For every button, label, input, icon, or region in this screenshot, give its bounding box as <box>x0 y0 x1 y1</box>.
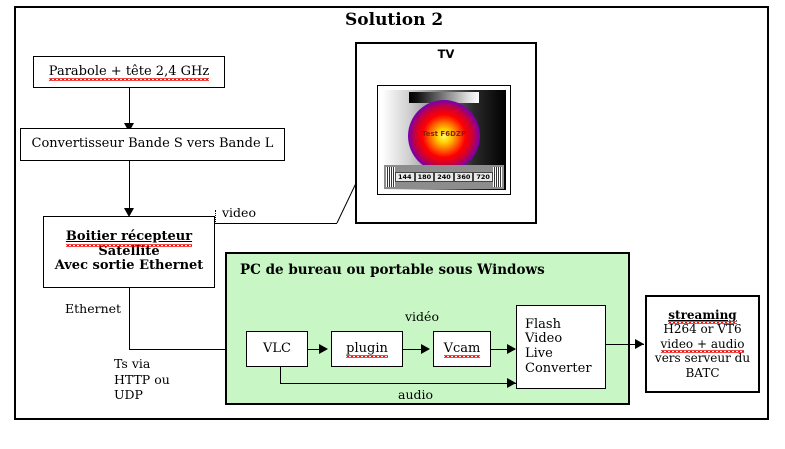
node-streaming-line1: H264 or VT6 <box>663 322 741 336</box>
node-receiver-line2: Satellite <box>98 245 159 260</box>
node-vlc: VLC <box>246 331 308 367</box>
arrowhead-plugin-vcam <box>421 344 430 354</box>
node-antenna: Parabole + tête 2,4 GHz <box>33 56 225 88</box>
tv-resolution-cell: 360 <box>454 172 474 183</box>
node-flash-converter-line2: Video <box>525 332 562 347</box>
tv-resolution-cell: 180 <box>415 172 435 183</box>
tv-test-pattern-text: Test F6DZP <box>422 130 466 138</box>
edge-label-transport-line1: Ts via <box>114 356 170 372</box>
tv-screen-frame: Test F6DZP 144 180 240 360 720 <box>377 85 511 195</box>
frequency-bars-icon <box>493 167 502 187</box>
arrowhead-flash-streaming <box>635 339 644 349</box>
connector-antenna-converter <box>129 88 130 126</box>
node-vcam-label: Vcam <box>444 342 481 357</box>
connector-video-horizontal <box>215 223 337 224</box>
connector-converter-receiver <box>129 161 130 213</box>
tv-resolution-bar: 144 180 240 360 720 <box>384 165 504 189</box>
connector-ethernet-vertical <box>129 288 130 350</box>
node-vcam: Vcam <box>433 331 491 367</box>
connector-video-stub <box>215 210 216 224</box>
node-plugin-label: plugin <box>346 342 388 357</box>
edge-label-video-mid: vidéo <box>405 309 439 325</box>
node-converter: Convertisseur Bande S vers Bande L <box>20 128 285 161</box>
node-flash-converter: Flash Video Live Converter <box>516 305 606 389</box>
node-converter-label: Convertisseur Bande S vers Bande L <box>32 137 274 152</box>
panel-pc-title: PC de bureau ou portable sous Windows <box>240 262 545 278</box>
node-plugin: plugin <box>331 331 403 367</box>
frequency-bars-icon <box>386 167 395 187</box>
node-antenna-label: Parabole + tête 2,4 GHz <box>49 65 209 80</box>
node-streaming: streaming H264 or VT6 video + audio vers… <box>645 295 760 393</box>
edge-label-transport-line3: UDP <box>114 387 170 403</box>
edge-label-transport: Ts via HTTP ou UDP <box>114 356 170 403</box>
tv-test-pattern: Test F6DZP 144 180 240 360 720 <box>382 90 506 190</box>
node-vlc-label: VLC <box>263 342 291 357</box>
panel-tv-label: TV <box>355 47 537 61</box>
edge-label-video-out: video <box>222 205 256 221</box>
node-streaming-title: streaming <box>668 308 736 322</box>
connector-audio-vertical <box>280 367 281 384</box>
arrowhead-vcam-flash <box>507 344 516 354</box>
node-receiver-line3: Avec sortie Ethernet <box>55 259 204 274</box>
edge-label-ethernet: Ethernet <box>65 301 121 317</box>
diagram-canvas: Solution 2 Parabole + tête 2,4 GHz Conve… <box>0 0 785 449</box>
node-flash-converter-line1: Flash <box>525 318 561 333</box>
tv-resolution-cell: 720 <box>473 172 493 183</box>
node-receiver: Boitier récepteur Satellite Avec sortie … <box>43 216 215 288</box>
connector-audio-horizontal <box>280 383 516 384</box>
node-streaming-line4: BATC <box>685 366 719 380</box>
tv-resolution-cell: 144 <box>395 172 415 183</box>
edge-label-transport-line2: HTTP ou <box>114 372 170 388</box>
arrowhead-audio-flash <box>507 378 516 388</box>
tv-resolution-cell: 240 <box>434 172 454 183</box>
node-receiver-line1: Boitier récepteur <box>66 230 192 245</box>
arrowhead-vlc-plugin <box>319 344 328 354</box>
node-streaming-line3: vers serveur du <box>655 351 750 365</box>
node-flash-converter-line3: Live <box>525 347 553 362</box>
edge-label-audio: audio <box>398 387 433 403</box>
node-streaming-line2: video + audio <box>661 337 745 351</box>
node-flash-converter-line4: Converter <box>525 362 592 377</box>
page-title: Solution 2 <box>345 10 443 30</box>
